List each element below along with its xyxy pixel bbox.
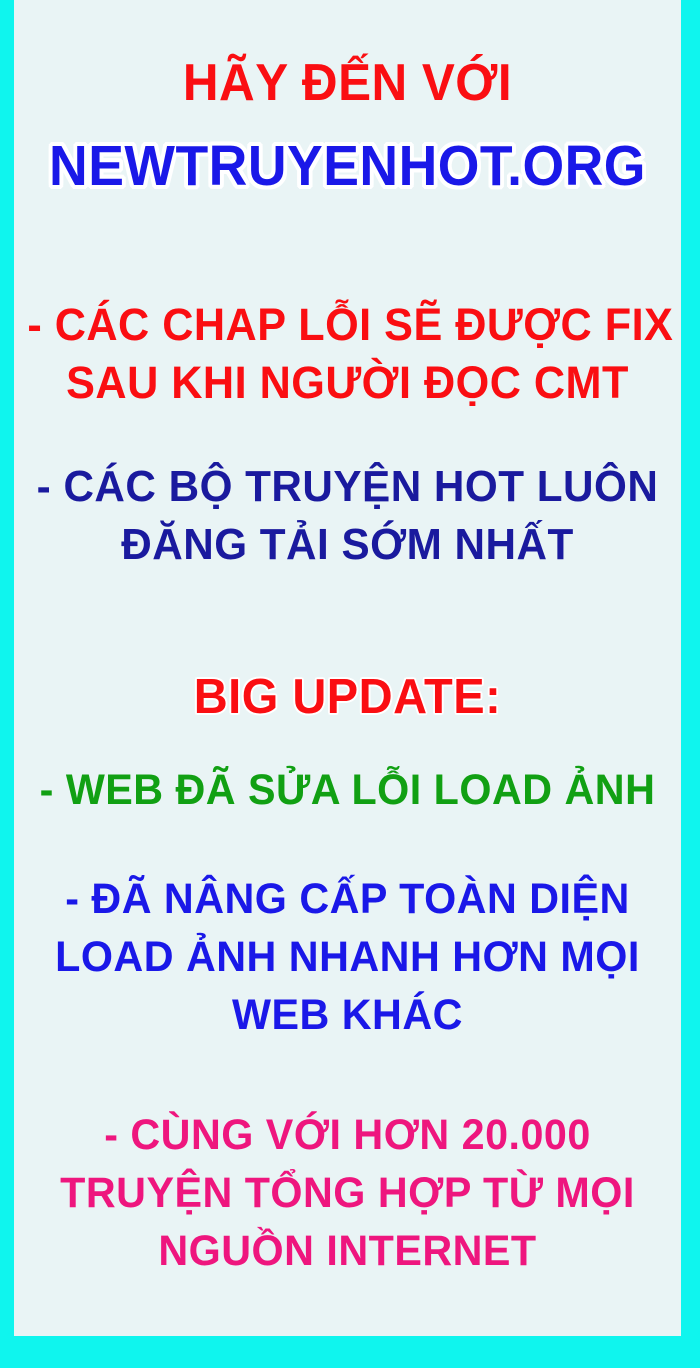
poster-heading: HÃY ĐẾN VỚI	[31, 48, 665, 118]
update-pink-line-1: - CÙNG VỚI HƠN 20.000	[27, 1106, 667, 1164]
update-section-title: BIG UPDATE:	[27, 666, 667, 728]
update-green-line-1: - WEB ĐÃ SỬA LỖI LOAD ẢNH	[27, 762, 667, 818]
update-blue-line-3: WEB KHÁC	[27, 986, 667, 1044]
notice-red-line-1: - CÁC CHAP LỖI SẼ ĐƯỢC FIX	[27, 296, 667, 354]
update-blue-line-2: LOAD ẢNH NHANH HƠN MỌI	[27, 928, 667, 986]
update-blue-line-1: - ĐÃ NÂNG CẤP TOÀN DIỆN	[27, 870, 667, 928]
notice-red-line-2: SAU KHI NGƯỜI ĐỌC CMT	[27, 354, 667, 412]
update-pink-line-3: NGUỒN INTERNET	[27, 1222, 667, 1280]
poster-content-stack: HÃY ĐẾN VỚI NEWTRUYENHOT.ORG - CÁC CHAP …	[14, 0, 681, 1336]
notice-navy-line-2: ĐĂNG TẢI SỚM NHẤT	[27, 516, 667, 574]
promo-poster: HÃY ĐẾN VỚI NEWTRUYENHOT.ORG - CÁC CHAP …	[0, 0, 700, 1368]
update-pink-line-2: TRUYỆN TỔNG HỢP TỪ MỌI	[27, 1164, 667, 1222]
notice-navy-line-1: - CÁC BỘ TRUYỆN HOT LUÔN	[27, 458, 667, 516]
poster-panel: HÃY ĐẾN VỚI NEWTRUYENHOT.ORG - CÁC CHAP …	[14, 0, 681, 1336]
poster-brand-domain[interactable]: NEWTRUYENHOT.ORG	[34, 130, 661, 202]
